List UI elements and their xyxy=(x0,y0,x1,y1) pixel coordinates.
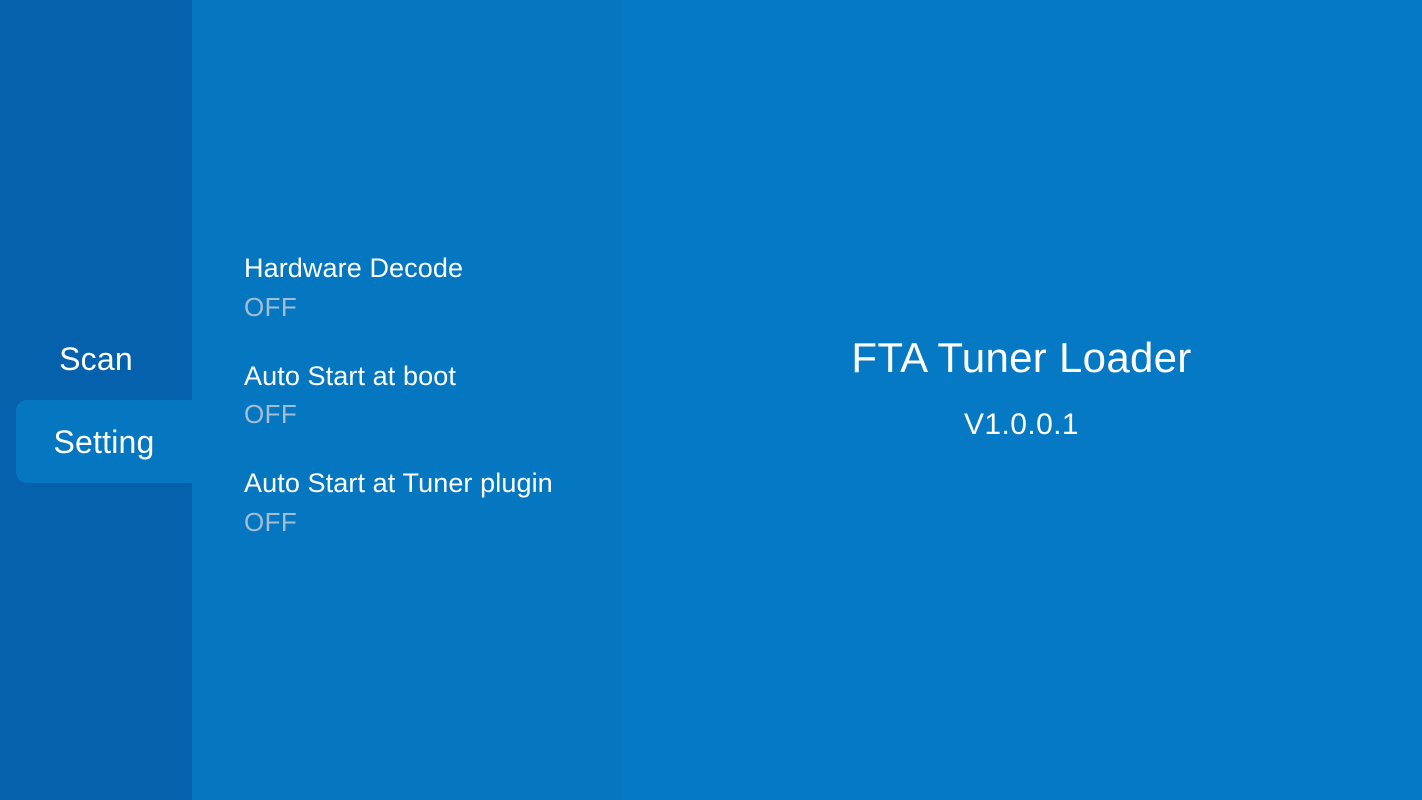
setting-row-auto-start-at-tuner-plugin[interactable]: Auto Start at Tuner plugin OFF xyxy=(244,468,621,538)
app-root: Scan Setting Hardware Decode OFF Auto St… xyxy=(0,0,1422,800)
sidebar-item-scan[interactable]: Scan xyxy=(0,317,192,400)
setting-row-hardware-decode[interactable]: Hardware Decode OFF xyxy=(244,253,621,323)
setting-title: Hardware Decode xyxy=(244,253,621,285)
setting-title: Auto Start at boot xyxy=(244,361,621,393)
app-title: FTA Tuner Loader xyxy=(851,337,1191,379)
sidebar-item-setting-label: Setting xyxy=(53,426,154,458)
setting-value: OFF xyxy=(244,399,621,430)
setting-value: OFF xyxy=(244,292,621,323)
setting-title: Auto Start at Tuner plugin xyxy=(244,468,621,500)
settings-panel: Hardware Decode OFF Auto Start at boot O… xyxy=(192,0,621,800)
sidebar-item-setting[interactable]: Setting xyxy=(16,400,192,483)
sidebar-item-scan-label: Scan xyxy=(59,343,133,375)
app-version: V1.0.0.1 xyxy=(964,410,1079,440)
setting-row-auto-start-at-boot[interactable]: Auto Start at boot OFF xyxy=(244,361,621,431)
setting-value: OFF xyxy=(244,507,621,538)
info-pane: FTA Tuner Loader V1.0.0.1 xyxy=(621,0,1422,800)
sidebar-nav: Scan Setting xyxy=(0,0,192,800)
